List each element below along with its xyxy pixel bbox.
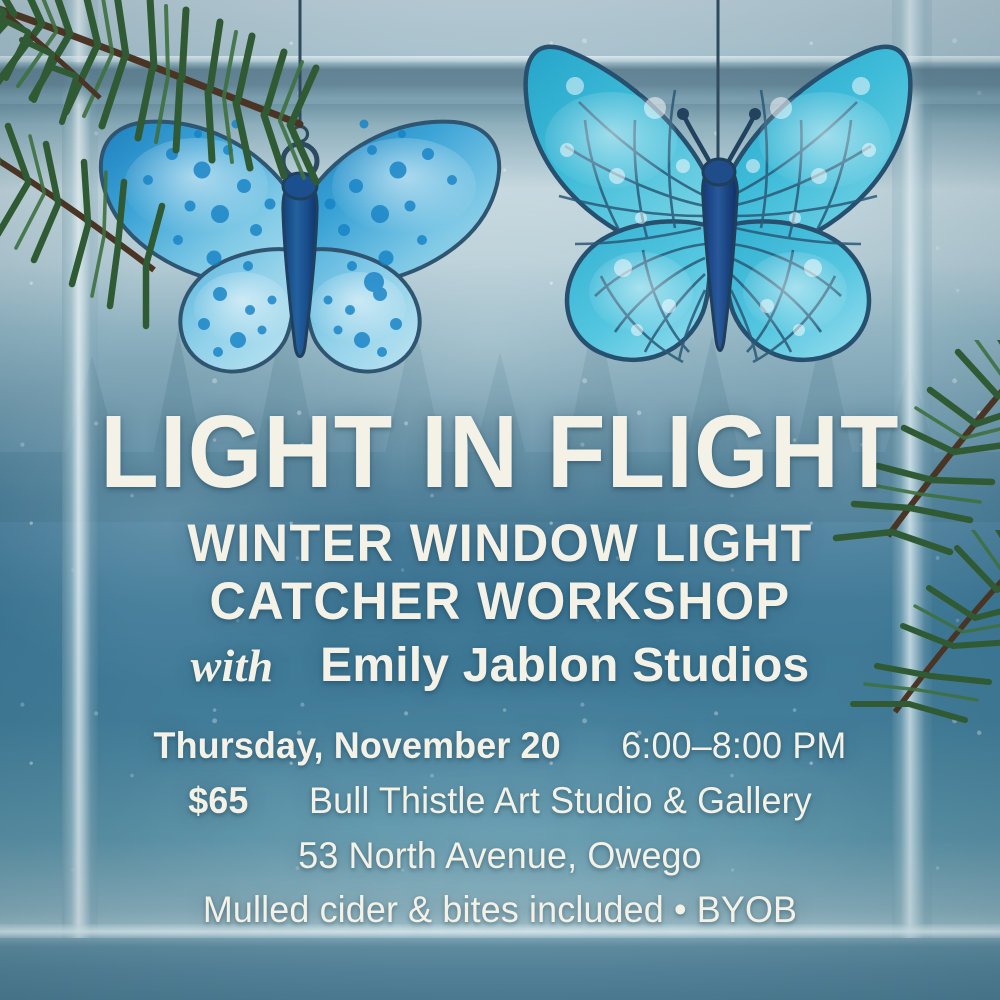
subtitle-line-1: WINTER WINDOW LIGHT xyxy=(25,515,975,573)
with-word: with xyxy=(191,640,274,691)
detail-address: 53 North Avenue, Owego xyxy=(15,829,985,884)
presenter-line: with Emily Jablon Studios xyxy=(0,640,1000,693)
detail-price-venue: $65 Bull Thistle Art Studio & Gallery xyxy=(15,774,985,829)
antenna-tip-right xyxy=(749,108,761,120)
event-date: Thursday, November 20 xyxy=(154,725,561,766)
detail-extras: Mulled cider & bites included • BYOB xyxy=(15,883,985,938)
page-title: LIGHT IN FLIGHT xyxy=(35,404,965,501)
event-price: $65 xyxy=(188,780,248,821)
butterfly-head-right xyxy=(703,159,735,185)
subtitle-line-2: CATCHER WORKSHOP xyxy=(25,573,975,631)
poster-canvas: LIGHT IN FLIGHT WINTER WINDOW LIGHT CATC… xyxy=(0,0,1000,1000)
antenna-tip-left xyxy=(677,108,689,120)
event-venue: Bull Thistle Art Studio & Gallery xyxy=(309,780,812,821)
butterfly-body-right xyxy=(703,162,738,351)
studio-name: Emily Jablon Studios xyxy=(320,639,809,692)
poster-text-block: LIGHT IN FLIGHT WINTER WINDOW LIGHT CATC… xyxy=(0,404,1000,938)
event-time: 6:00–8:00 PM xyxy=(621,725,846,766)
butterfly-head-left xyxy=(283,173,317,199)
veined-teal-butterfly-suncatcher xyxy=(515,0,927,380)
jump-ring-small-left xyxy=(293,127,308,142)
spotted-blue-butterfly-suncatcher xyxy=(86,0,506,390)
event-details: Thursday, November 20 6:00–8:00 PM $65 B… xyxy=(0,719,1000,938)
detail-date-time: Thursday, November 20 6:00–8:00 PM xyxy=(15,719,985,774)
